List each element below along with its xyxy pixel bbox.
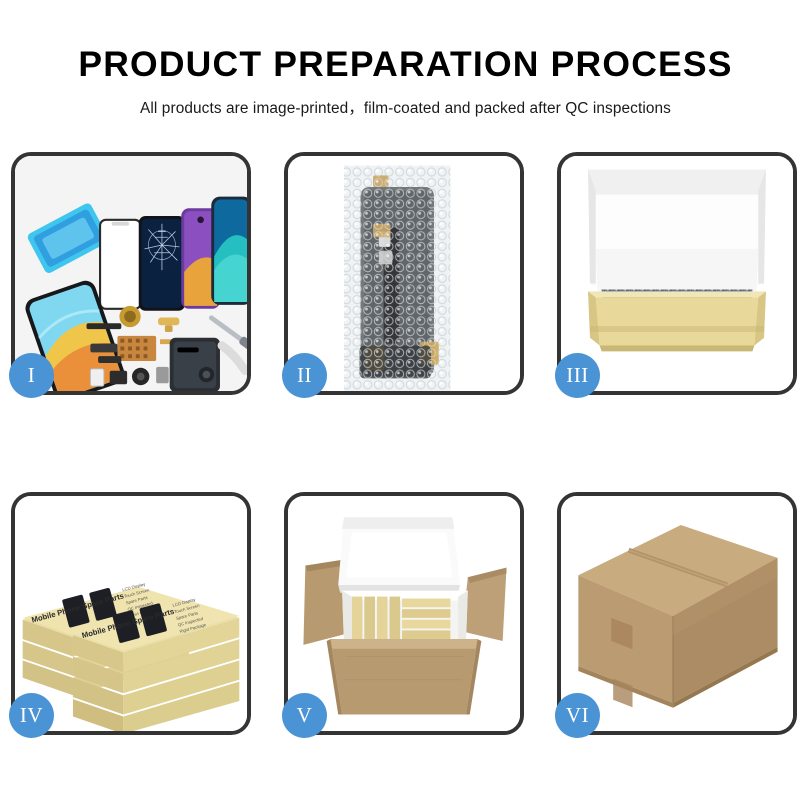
open-gold-box-photo — [561, 156, 793, 391]
step-badge-5: V — [282, 693, 327, 738]
carton-foam-cooler-photo — [288, 496, 520, 731]
sealed-shipping-carton-photo — [561, 496, 793, 731]
stacked-retail-boxes-photo: Mobile Phone Spare Parts LCD Display Tou… — [15, 496, 247, 731]
step-badge-2: II — [282, 353, 327, 398]
header: PRODUCT PREPARATION PROCESS All products… — [0, 44, 811, 118]
page-subtitle: All products are image-printed，film-coat… — [0, 96, 811, 118]
step-badge-1: I — [9, 353, 54, 398]
product-preparation-infographic: PRODUCT PREPARATION PROCESS All products… — [0, 0, 811, 811]
page-title: PRODUCT PREPARATION PROCESS — [0, 44, 811, 85]
step-card-1: I — [11, 152, 251, 395]
step-card-2: II — [284, 152, 524, 395]
step-badge-4: IV — [9, 693, 54, 738]
step-badge-3: III — [555, 353, 600, 398]
bubble-wrapped-screen-photo — [288, 156, 520, 391]
step-card-5: V — [284, 492, 524, 735]
step-card-3: III — [557, 152, 797, 395]
step-badge-6: VI — [555, 693, 600, 738]
process-steps-grid: I — [11, 152, 800, 735]
phone-parts-assortment-photo — [15, 156, 247, 391]
step-card-6: VI — [557, 492, 797, 735]
step-card-4: Mobile Phone Spare Parts LCD Display Tou… — [11, 492, 251, 735]
